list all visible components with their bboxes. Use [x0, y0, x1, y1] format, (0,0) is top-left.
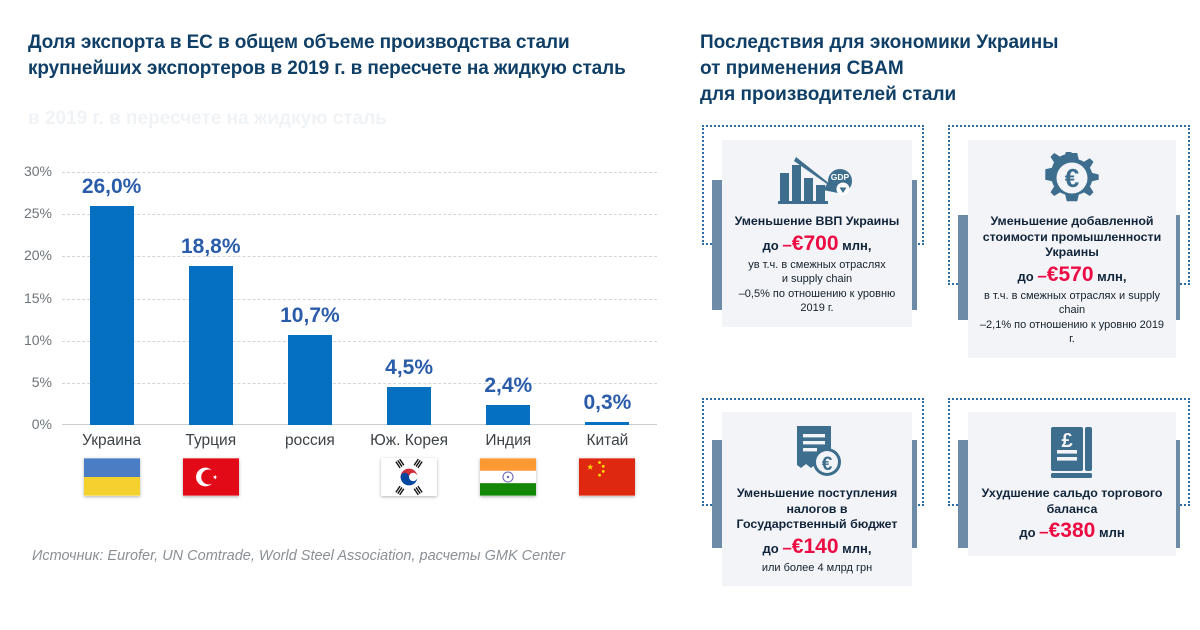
bar-россия	[288, 335, 332, 425]
card-heading: Уменьшение ВВП Украины	[735, 214, 900, 230]
amount-value: €570	[1047, 263, 1094, 286]
amount-minus-sign: –	[782, 235, 791, 254]
y-axis-tick-label: 10%	[6, 332, 52, 348]
bar-украина	[90, 206, 134, 425]
bar-китай	[585, 422, 629, 425]
impact-card-2[interactable]: € Уменьшение добавленной стоимости промы…	[968, 140, 1176, 358]
china-flag	[579, 458, 635, 496]
tax-invoice-euro-icon: €	[789, 422, 845, 484]
chart-title-line-1: Доля экспорта в ЕС в общем объеме произв…	[28, 30, 648, 56]
impact-title-line-1: Последствия для экономики Украины	[700, 30, 1180, 56]
amount-suffix: млн,	[842, 238, 871, 253]
chart-title-ghost-artifact: в 2019 г. в пересчете на жидкую сталь	[28, 108, 648, 130]
card-heading: Уменьшение добавленной стоимости промышл…	[977, 214, 1167, 261]
svg-text:€: €	[822, 454, 833, 475]
amount-minus-sign: –	[1039, 522, 1048, 541]
amount-minus-sign: –	[782, 538, 791, 557]
chart-source: Источник: Eurofer, UN Comtrade, World St…	[32, 548, 565, 564]
category-label: Китай	[547, 432, 667, 450]
card-note: и supply chain	[782, 272, 852, 287]
plot-area: 26,0%18,8%10,7%4,5%2,4%0,3%	[62, 172, 657, 425]
y-axis-tick-label: 25%	[6, 205, 52, 221]
turkey-flag	[183, 458, 239, 496]
svg-text:GDP: GDP	[831, 172, 850, 182]
y-axis-tick-label: 20%	[6, 247, 52, 263]
gear-euro-icon: €	[1043, 150, 1101, 212]
y-axis: 0%5%10%15%20%25%30%	[6, 172, 52, 425]
y-axis-tick-label: 15%	[6, 290, 52, 306]
card-amount: до –€140 млн,	[763, 537, 872, 559]
card-amount: до –€570 млн,	[1018, 265, 1127, 287]
card-note: –2,1% по отношению к уровню 2019 г.	[977, 318, 1167, 347]
gridline	[62, 172, 657, 173]
y-axis-tick-label: 30%	[6, 163, 52, 179]
bar-value-label: 0,3%	[547, 391, 667, 415]
card-heading: Уменьшение поступления налогов в Государ…	[731, 486, 903, 533]
card-note: ув т.ч. в смежных отраслях	[748, 258, 886, 273]
svg-text:€: €	[1065, 163, 1079, 193]
flag-wrapper	[547, 458, 667, 496]
chart-title: Доля экспорта в ЕС в общем объеме произв…	[28, 30, 648, 82]
amount-prefix: до	[1019, 525, 1035, 540]
amount-minus-sign: –	[1037, 266, 1046, 285]
no-flag	[282, 458, 338, 496]
impact-title-line-2: от применения CBAM	[700, 56, 1180, 82]
amount-prefix: до	[763, 238, 779, 253]
card-note: или более 4 млрд грн	[762, 561, 872, 576]
y-axis-tick-label: 5%	[6, 374, 52, 390]
impact-card-4[interactable]: £ Ухудшение сальдо торгового балансадо –…	[968, 412, 1176, 556]
category-6: Китай	[547, 432, 667, 496]
infographic-page: Доля экспорта в ЕС в общем объеме произв…	[0, 0, 1200, 630]
category-axis: УкраинаТурция россияЮж. Корея Индия Кита…	[62, 432, 657, 522]
amount-prefix: до	[1018, 269, 1034, 284]
amount-value: €140	[792, 535, 839, 558]
india-flag	[480, 458, 536, 496]
impact-title-line-3: для производителей стали	[700, 82, 1180, 108]
bar-юж-корея	[387, 387, 431, 425]
bar-value-label: 10,7%	[250, 304, 370, 328]
amount-suffix: млн,	[1097, 269, 1126, 284]
amount-suffix: млн,	[842, 541, 871, 556]
card-heading: Ухудшение сальдо торгового баланса	[977, 486, 1167, 517]
impact-card-3[interactable]: € Уменьшение поступления налогов в Госуд…	[722, 412, 912, 586]
card-note: –0,5% по отношению к уровню 2019 г.	[731, 287, 903, 316]
gridline	[62, 299, 657, 300]
amount-value: €380	[1049, 519, 1096, 542]
card-amount: до –€700 млн,	[763, 234, 872, 256]
card-amount: до –€380 млн	[1019, 521, 1124, 543]
bar-value-label: 26,0%	[52, 175, 172, 199]
gridline	[62, 214, 657, 215]
south-korea-flag	[381, 458, 437, 496]
gridline	[62, 341, 657, 342]
bar-индия	[486, 405, 530, 425]
amount-prefix: до	[763, 541, 779, 556]
impact-panel-title: Последствия для экономики Украины от при…	[700, 30, 1180, 108]
ledger-book-currency-icon: £	[1047, 422, 1097, 484]
axis-baseline	[62, 424, 657, 425]
amount-value: €700	[792, 232, 839, 255]
bar-турция	[189, 266, 233, 425]
impact-panel: Последствия для экономики Украины от при…	[690, 0, 1200, 630]
y-axis-tick-label: 0%	[6, 416, 52, 432]
svg-text:£: £	[1061, 430, 1072, 452]
amount-suffix: млн	[1099, 525, 1125, 540]
card-note: в т.ч. в смежных отраслях и supply chain	[977, 289, 1167, 318]
impact-card-1[interactable]: GDP Уменьшение ВВП Украиныдо –€700 млн,у…	[722, 140, 912, 327]
chart-panel: Доля экспорта в ЕС в общем объеме произв…	[0, 0, 680, 630]
declining-bar-chart-gdp-icon: GDP	[778, 150, 856, 212]
chart-title-line-2: крупнейших экспортеров в 2019 г. в перес…	[28, 56, 648, 82]
ukraine-flag	[84, 458, 140, 496]
bar-value-label: 18,8%	[151, 235, 271, 259]
